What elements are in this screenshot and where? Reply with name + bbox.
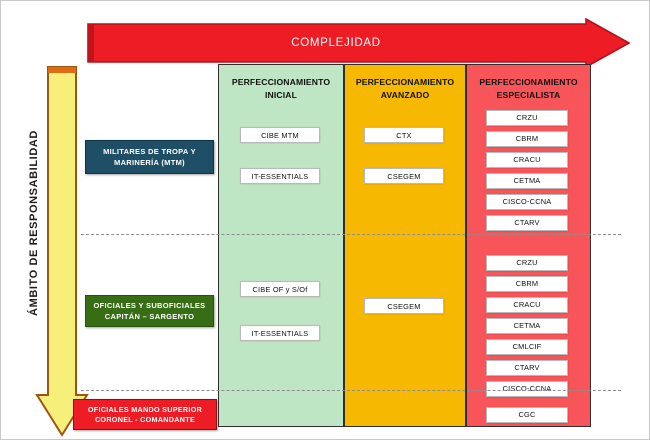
role-label-mtm: MILITARES DE TROPA Y MARINERÍA (MTM) [85, 140, 214, 174]
section-divider [81, 234, 621, 235]
column-header-line1: PERFECCIONAMIENTO [345, 76, 465, 89]
role-label-line2: MARINERÍA (MTM) [114, 157, 185, 168]
course-chip[interactable]: CRACU [486, 297, 568, 313]
role-label-line1: OFICIALES Y SUBOFICIALES [94, 300, 206, 311]
column-header-line1: PERFECCIONAMIENTO [219, 76, 343, 89]
column-header-avanzado: PERFECCIONAMIENTO AVANZADO [345, 65, 465, 102]
course-chip[interactable]: CMLCIF [486, 339, 568, 355]
column-header-line2: ESPECIALISTA [467, 89, 590, 102]
course-chip[interactable]: CETMA [486, 318, 568, 334]
column-perfeccionamiento-inicial: PERFECCIONAMIENTO INICIAL CIBE MTM IT-ES… [218, 64, 344, 427]
course-chip[interactable]: CETMA [486, 173, 568, 189]
column-perfeccionamiento-avanzado: PERFECCIONAMIENTO AVANZADO CTX CSEGEM CS… [344, 64, 466, 427]
column-header-inicial: PERFECCIONAMIENTO INICIAL [219, 65, 343, 102]
course-chip[interactable]: CRZU [486, 255, 568, 271]
column-header-line2: INICIAL [219, 89, 343, 102]
course-chip[interactable]: CRZU [486, 110, 568, 126]
column-header-line1: PERFECCIONAMIENTO [467, 76, 590, 89]
responsibility-axis-label: ÁMBITO DE RESPONSABILIDAD [24, 73, 44, 373]
column-header-line2: AVANZADO [345, 89, 465, 102]
course-chip[interactable]: CTARV [486, 215, 568, 231]
column-header-especialista: PERFECCIONAMIENTO ESPECIALISTA [467, 65, 590, 102]
role-label-line1: OFICIALES MANDO SUPERIOR [88, 405, 202, 415]
complexity-axis-label: COMPLEJIDAD [86, 33, 586, 53]
course-chip[interactable]: CIBE MTM [240, 127, 320, 143]
course-chip[interactable]: CISCO-CCNA [486, 381, 568, 397]
role-label-line2: CAPITÁN – SARGENTO [105, 311, 194, 322]
role-label-line1: MILITARES DE TROPA Y [103, 146, 196, 157]
course-chip[interactable]: CISCO-CCNA [486, 194, 568, 210]
course-chip[interactable]: CBRM [486, 131, 568, 147]
course-chip[interactable]: CTX [364, 127, 444, 143]
course-chip[interactable]: CBRM [486, 276, 568, 292]
diagram-frame: COMPLEJIDAD ÁMBITO DE RESPONSABILIDAD MI… [0, 0, 650, 440]
course-chip[interactable]: CSEGEM [364, 298, 444, 314]
role-label-oficiales: OFICIALES Y SUBOFICIALES CAPITÁN – SARGE… [85, 295, 214, 327]
role-label-line2: CORONEL - COMANDANTE [95, 415, 195, 425]
course-chip[interactable]: CTARV [486, 360, 568, 376]
course-chip[interactable]: CGC [486, 407, 568, 423]
course-chip[interactable]: CRACU [486, 152, 568, 168]
course-chip[interactable]: IT-ESSENTIALS [240, 325, 320, 341]
course-chip[interactable]: CIBE OF y S/Of [240, 281, 320, 297]
course-chip[interactable]: IT-ESSENTIALS [240, 168, 320, 184]
section-divider [81, 390, 621, 391]
role-label-mando-superior: OFICIALES MANDO SUPERIOR CORONEL - COMAN… [73, 399, 217, 430]
column-perfeccionamiento-especialista: PERFECCIONAMIENTO ESPECIALISTA CRZU CBRM… [466, 64, 591, 427]
course-chip[interactable]: CSEGEM [364, 168, 444, 184]
